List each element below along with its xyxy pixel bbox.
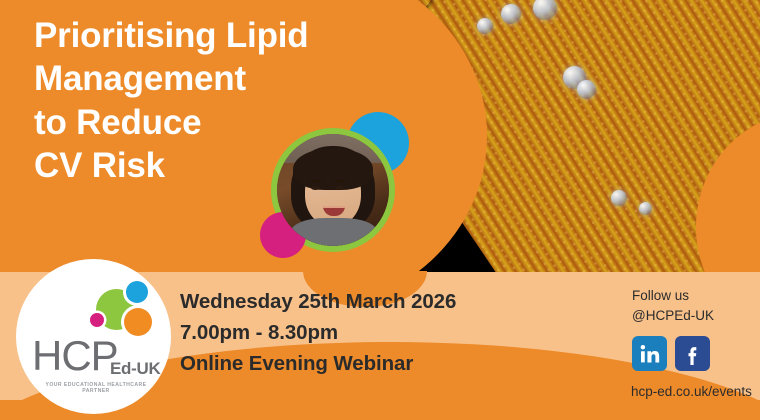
logo-mark-icon: [90, 281, 154, 339]
avatar: [277, 134, 389, 246]
vesicle: [577, 80, 596, 99]
webinar-promo-poster: Prioritising Lipid Management to Reduce …: [0, 0, 760, 420]
social-icons: [632, 336, 710, 371]
linkedin-icon[interactable]: [632, 336, 667, 371]
vesicle: [501, 4, 521, 24]
logo-wordmark: HCP: [32, 335, 118, 377]
logo-blue-dot: [126, 281, 148, 303]
website-url[interactable]: hcp-ed.co.uk/events: [631, 384, 752, 399]
event-date: Wednesday 25th March 2026: [180, 286, 456, 317]
title-line-1: Prioritising Lipid: [34, 14, 404, 57]
logo-pink-dot: [90, 313, 104, 327]
logo-suffix: Ed-UK: [110, 359, 160, 379]
logo-orange-dot: [124, 308, 152, 336]
social-handle: @HCPEd-UK: [632, 306, 714, 326]
event-time: 7.00pm - 8.30pm: [180, 317, 456, 348]
facebook-icon[interactable]: [675, 336, 710, 371]
follow-us-block: Follow us @HCPEd-UK: [632, 286, 714, 325]
title-line-2: Management: [34, 57, 404, 100]
vesicle: [477, 18, 493, 34]
science-image: [415, 0, 760, 272]
speaker-portrait-cluster: [255, 108, 430, 273]
logo-tagline: YOUR EDUCATIONAL HEALTHCARE PARTNER: [33, 382, 159, 394]
event-format: Online Evening Webinar: [180, 348, 456, 379]
hcp-ed-uk-logo: HCP Ed-UK YOUR EDUCATIONAL HEALTHCARE PA…: [16, 259, 171, 414]
follow-us-label: Follow us: [632, 286, 714, 306]
vesicle: [639, 202, 652, 215]
vesicle: [611, 190, 627, 206]
event-details: Wednesday 25th March 2026 7.00pm - 8.30p…: [180, 286, 456, 379]
